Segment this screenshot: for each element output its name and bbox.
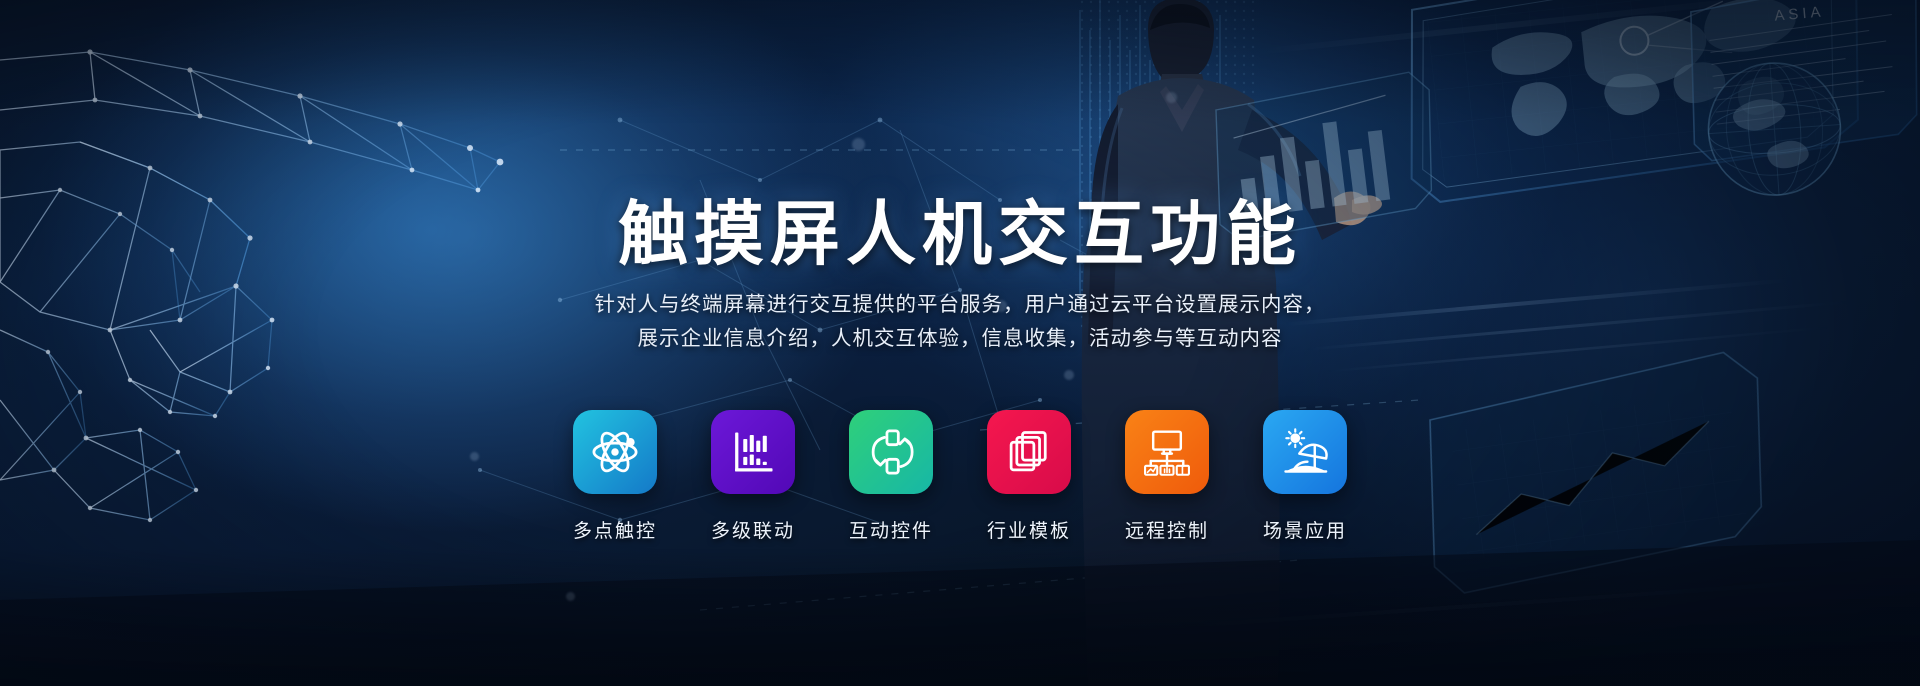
sync-widgets-icon bbox=[865, 426, 917, 478]
subtitle-line-1: 针对人与终端屏幕进行交互提供的平台服务，用户通过云平台设置展示内容， bbox=[0, 288, 1920, 322]
feature-label: 远程控制 bbox=[1125, 516, 1209, 543]
subtitle-line-2: 展示企业信息介绍，人机交互体验，信息收集，活动参与等互动内容 bbox=[0, 322, 1920, 356]
remote-monitor-icon bbox=[1141, 426, 1193, 478]
feature-tile[interactable] bbox=[1263, 410, 1347, 494]
feature-tile[interactable] bbox=[573, 410, 657, 494]
feature-item-multi-touch[interactable]: 多点触控 bbox=[569, 410, 661, 543]
feature-label: 多级联动 bbox=[711, 516, 795, 543]
bar-chart-icon bbox=[727, 426, 779, 478]
feature-tile[interactable] bbox=[1125, 410, 1209, 494]
hero-banner: ASIA bbox=[0, 0, 1920, 686]
feature-label: 互动控件 bbox=[849, 516, 933, 543]
feature-tile[interactable] bbox=[987, 410, 1071, 494]
stacked-cards-icon bbox=[1003, 426, 1055, 478]
feature-label: 行业模板 bbox=[987, 516, 1071, 543]
beach-scene-icon bbox=[1279, 426, 1331, 478]
feature-item-multi-level-linkage[interactable]: 多级联动 bbox=[707, 410, 799, 543]
feature-tile[interactable] bbox=[849, 410, 933, 494]
feature-item-interactive-widgets[interactable]: 互动控件 bbox=[845, 410, 937, 543]
banner-subtitle: 针对人与终端屏幕进行交互提供的平台服务，用户通过云平台设置展示内容， 展示企业信… bbox=[0, 288, 1920, 356]
feature-item-scene-application[interactable]: 场景应用 bbox=[1259, 410, 1351, 543]
feature-item-industry-templates[interactable]: 行业模板 bbox=[983, 410, 1075, 543]
banner-title: 触摸屏人机交互功能 bbox=[0, 178, 1920, 279]
atom-icon bbox=[589, 426, 641, 478]
feature-label: 多点触控 bbox=[573, 516, 657, 543]
feature-icon-row: 多点触控 bbox=[0, 410, 1920, 543]
feature-label: 场景应用 bbox=[1263, 516, 1347, 543]
feature-item-remote-control[interactable]: 远程控制 bbox=[1121, 410, 1213, 543]
feature-tile[interactable] bbox=[711, 410, 795, 494]
